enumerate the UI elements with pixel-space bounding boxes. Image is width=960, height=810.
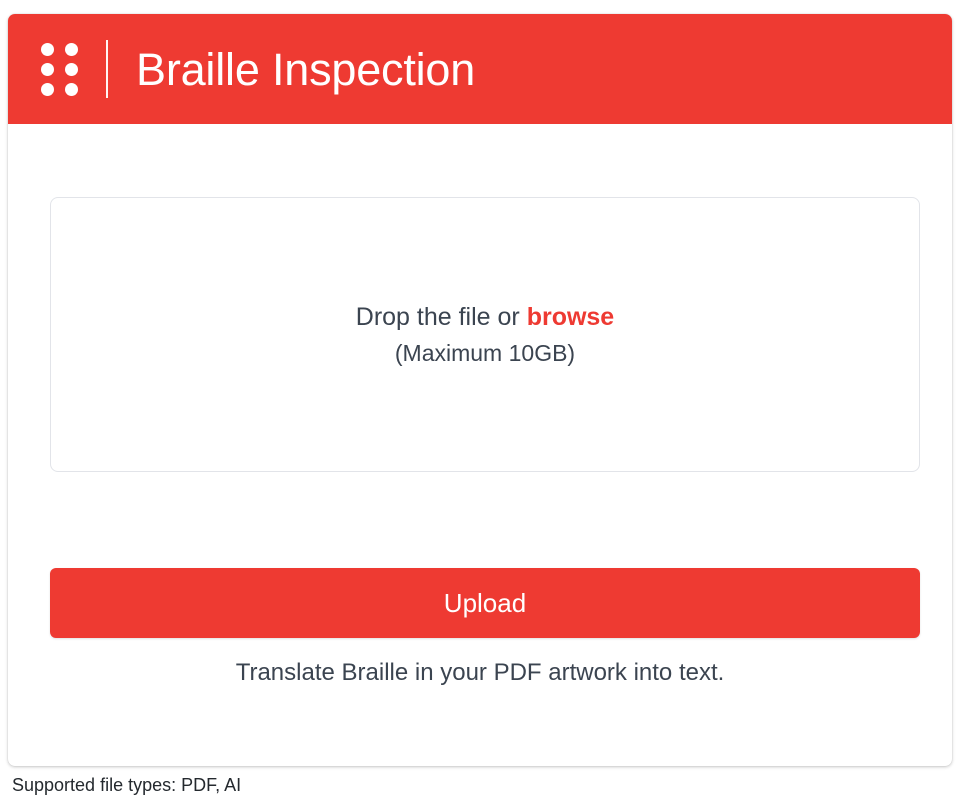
braille-dot-6 — [65, 83, 78, 96]
braille-dot-2 — [41, 63, 54, 76]
braille-dot-5 — [65, 63, 78, 76]
file-dropzone[interactable]: Drop the file or browse (Maximum 10GB) — [50, 197, 920, 472]
header-divider — [106, 40, 108, 98]
braille-dot-3 — [41, 83, 54, 96]
dropzone-prompt-prefix: Drop the file or — [356, 303, 527, 331]
app-root: Braille Inspection Drop the file or brow… — [0, 0, 960, 810]
braille-dot-1 — [41, 43, 54, 56]
dropzone-prompt: Drop the file or browse — [356, 302, 614, 333]
supported-file-types-note: Supported file types: PDF, AI — [12, 775, 241, 797]
app-header: Braille Inspection — [8, 14, 952, 124]
braille-dot-4 — [65, 43, 78, 56]
braille-inspection-card: Braille Inspection Drop the file or brow… — [8, 14, 952, 766]
card-body: Drop the file or browse (Maximum 10GB) U… — [8, 124, 952, 766]
browse-link[interactable]: browse — [527, 303, 615, 331]
upload-button[interactable]: Upload — [50, 568, 920, 638]
upload-caption: Translate Braille in your PDF artwork in… — [8, 659, 952, 688]
page-title: Braille Inspection — [136, 47, 475, 92]
braille-dots-icon — [41, 43, 78, 96]
dropzone-max-size: (Maximum 10GB) — [395, 340, 575, 368]
